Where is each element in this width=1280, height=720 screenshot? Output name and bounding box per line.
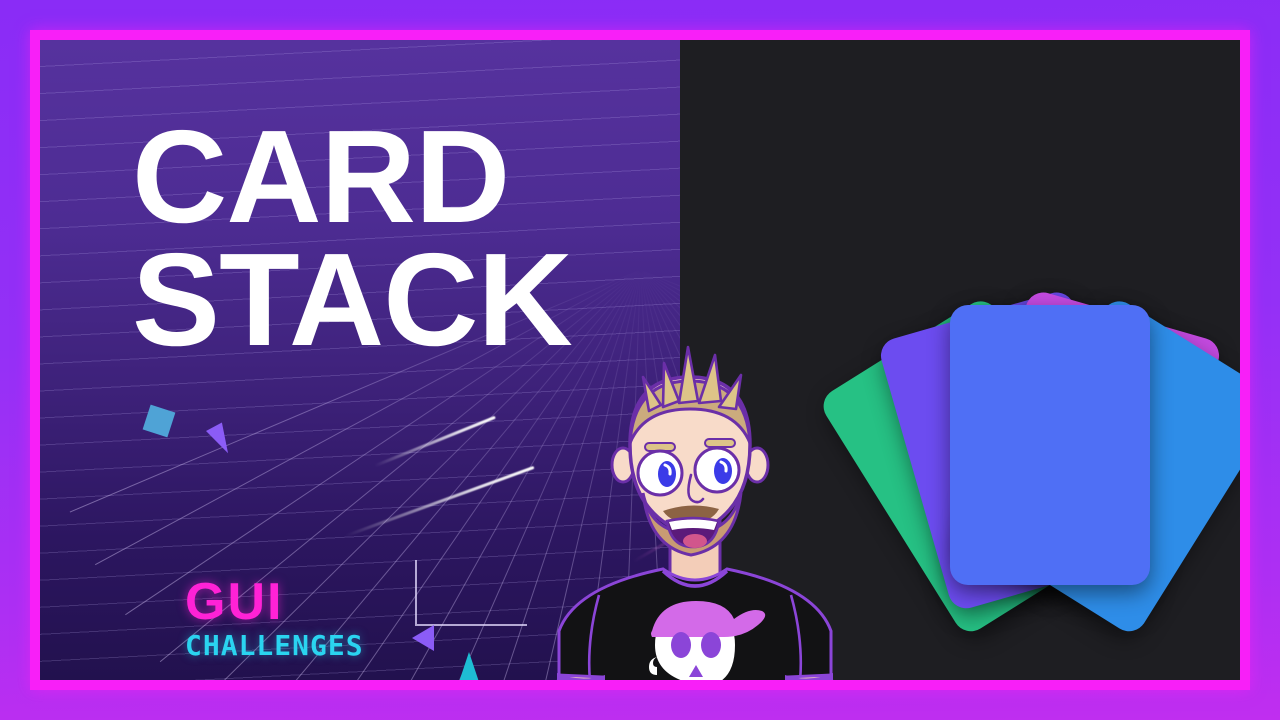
brand-logo-challenges: CHALLENGES [185,632,364,660]
host-avatar [545,325,845,680]
card-blue[interactable] [950,305,1150,585]
page-title: CARDSTACK [132,116,572,362]
purple-triangle-shape-2 [412,625,434,651]
brand-logo: GUI CHALLENGES [185,576,364,660]
brand-logo-gui: GUI [185,576,364,628]
neon-bracket [415,560,527,626]
card-stack [800,265,1240,665]
title-line-2: STACK [132,226,572,373]
cyan-triangle-shape [455,652,483,680]
inner-panel: CARDSTACK GUI CHALLENGES [40,40,1240,680]
thumbnail-canvas: CARDSTACK GUI CHALLENGES [0,0,1280,720]
host-avatar-svg [545,325,845,680]
